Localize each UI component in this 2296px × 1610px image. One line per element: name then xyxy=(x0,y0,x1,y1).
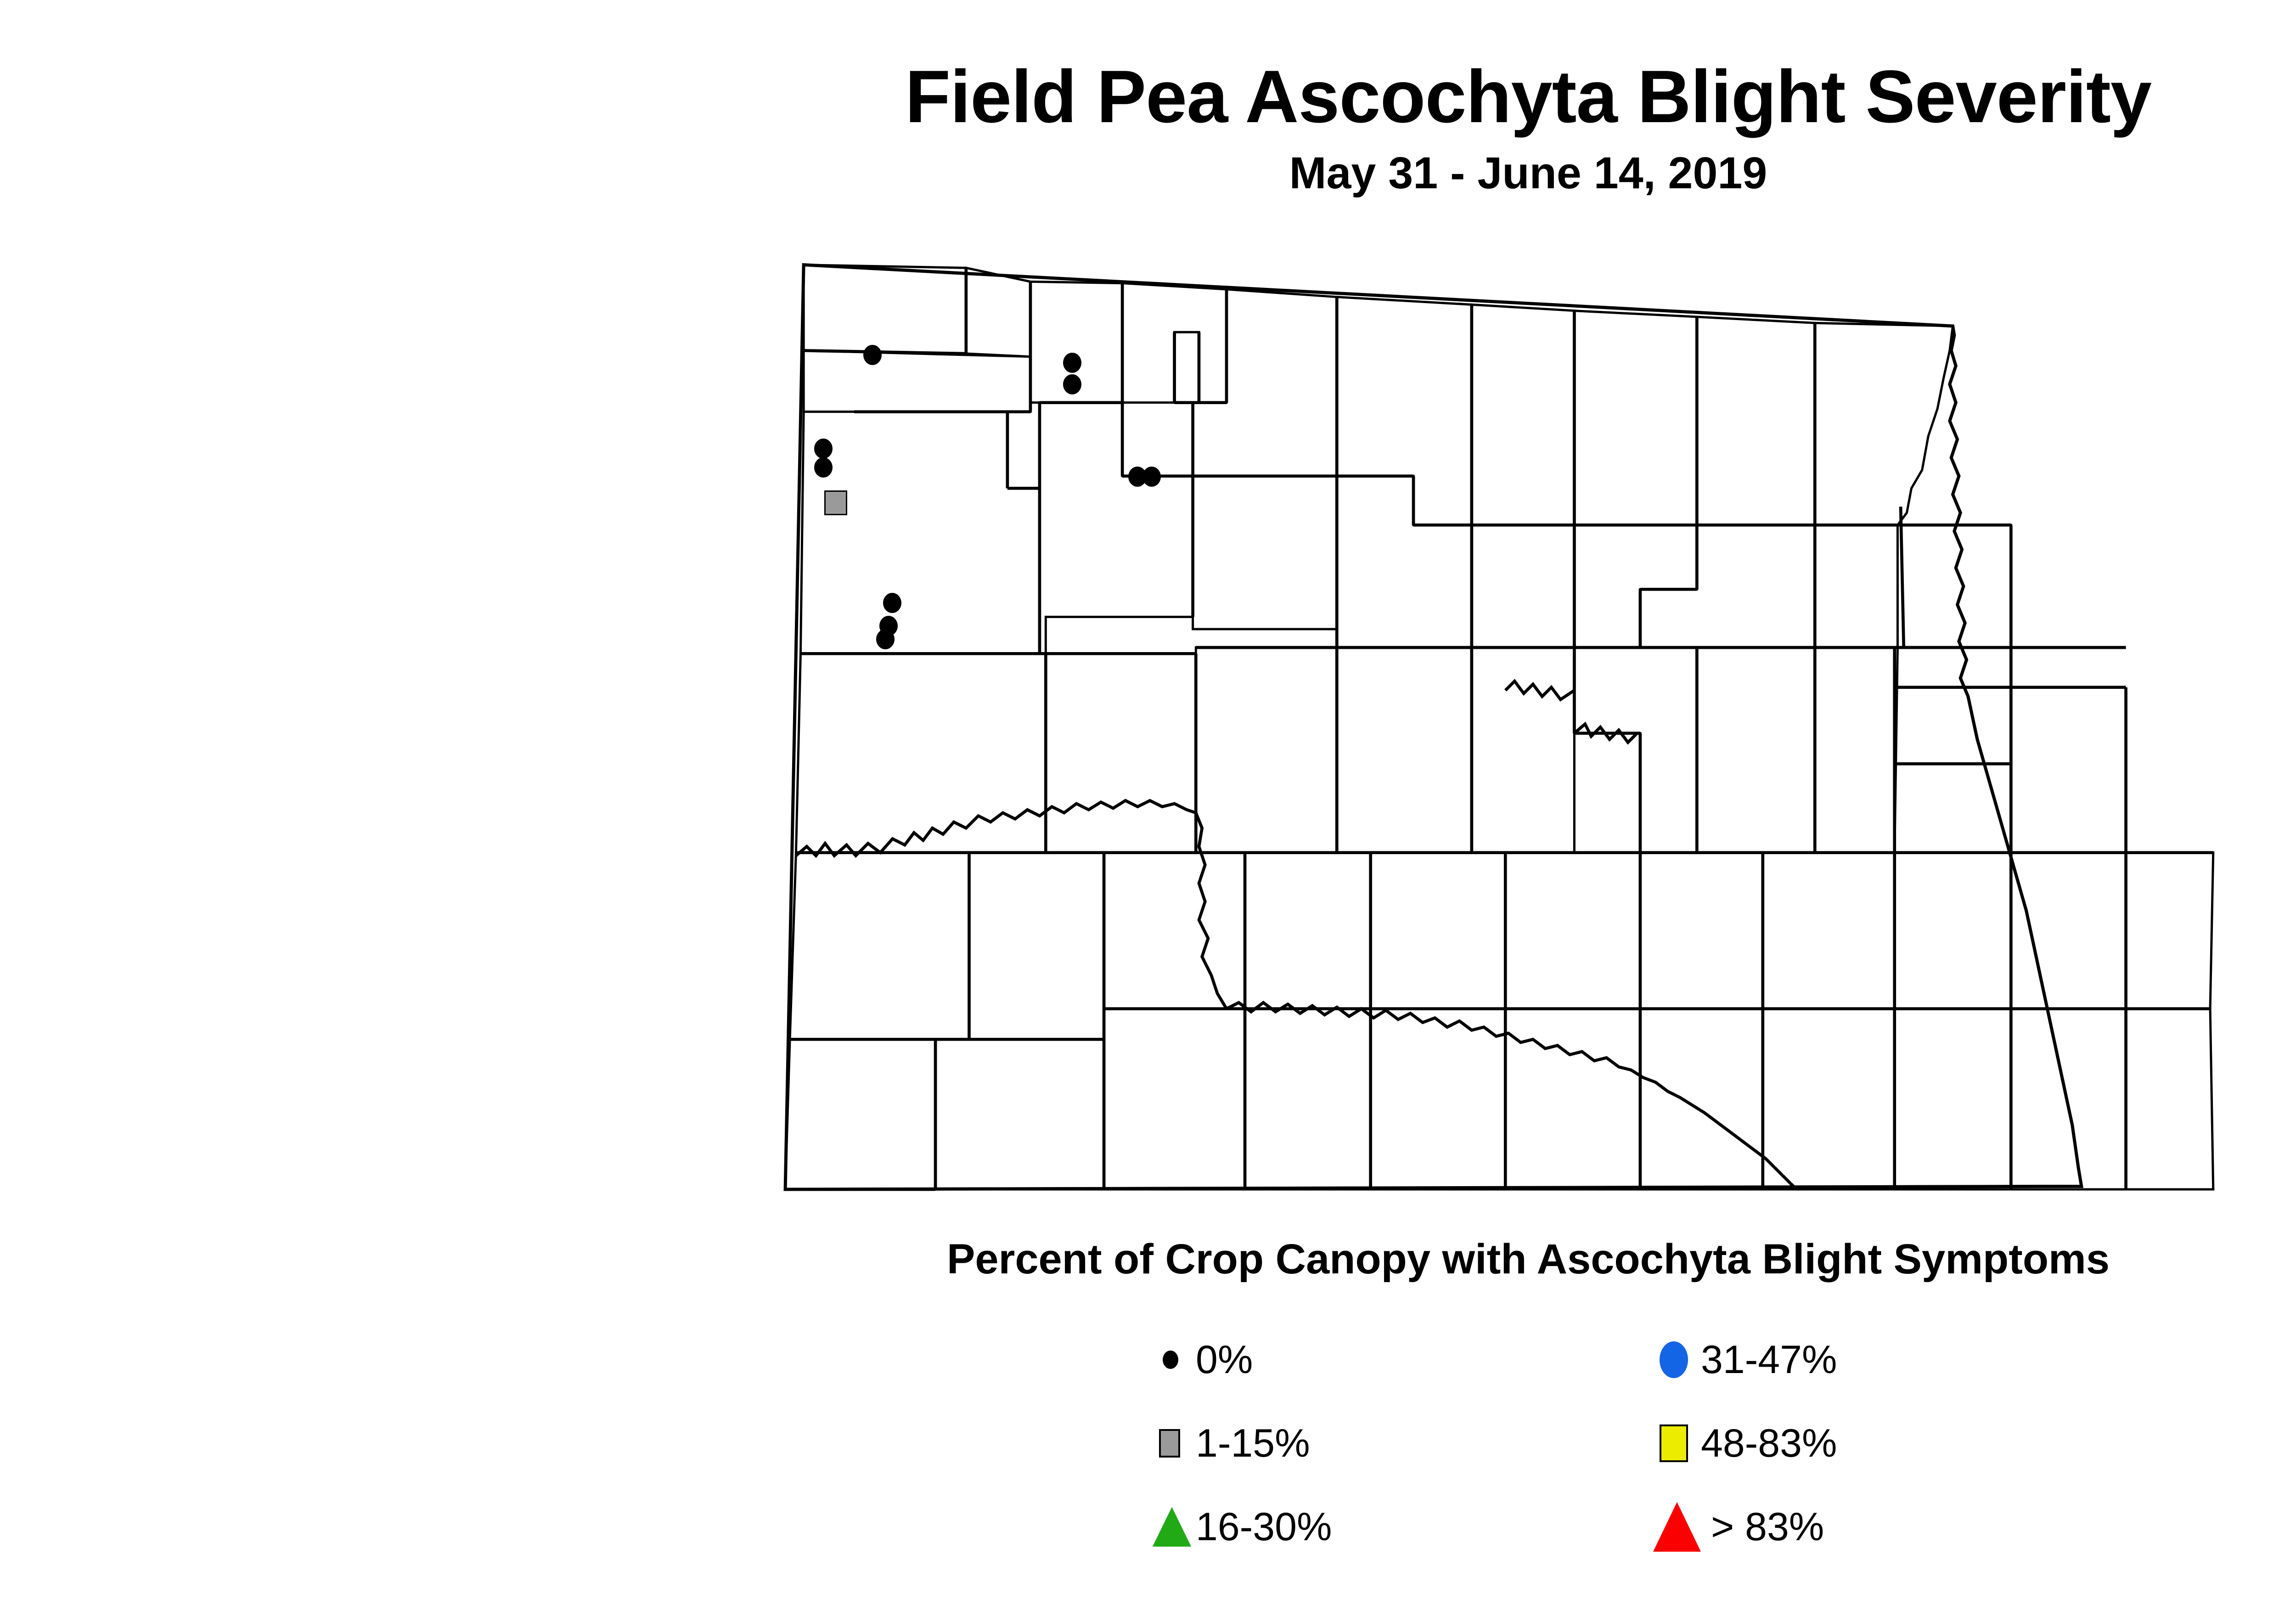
legend-label-over-83-percent: > 83% xyxy=(1711,1504,1824,1550)
legend-item-31-47-percent: 31-47% xyxy=(1644,1318,2149,1402)
page-title: Field Pea Ascochyta Blight Severity xyxy=(0,60,2296,134)
map-page: Field Pea Ascochyta Blight Severity May … xyxy=(0,0,2296,1610)
title-block: Field Pea Ascochyta Blight Severity May … xyxy=(0,60,2296,195)
north-dakota-county-map xyxy=(739,243,2296,1212)
legend-item-48-83-percent: 48-83% xyxy=(1644,1402,2149,1485)
page-subtitle: May 31 - June 14, 2019 xyxy=(0,151,2296,195)
county-polygons xyxy=(785,265,2213,1189)
legend-triangle-green-icon xyxy=(1139,1499,1194,1554)
legend-label-31-47-percent: 31-47% xyxy=(1701,1337,1837,1383)
legend-circle-blue-icon xyxy=(1644,1332,1699,1387)
legend-square-yellow-icon xyxy=(1644,1416,1699,1471)
legend-square-gray-icon xyxy=(1139,1416,1194,1471)
legend-caption: Percent of Crop Canopy with Ascochyta Bl… xyxy=(0,1235,2296,1283)
legend-label-1-15-percent: 1-15% xyxy=(1196,1421,1310,1466)
legend-item-over-83-percent: > 83% xyxy=(1644,1485,2149,1569)
map-svg xyxy=(739,243,2296,1212)
legend-item-1-15-percent: 1-15% xyxy=(1139,1402,1644,1485)
legend: 0% 31-47% 1-15% 48-83% 16-30% xyxy=(1139,1318,2149,1569)
legend-item-16-30-percent: 16-30% xyxy=(1139,1485,1644,1569)
legend-triangle-red-icon xyxy=(1644,1499,1699,1554)
legend-circle-black-icon xyxy=(1139,1332,1194,1387)
legend-label-48-83-percent: 48-83% xyxy=(1701,1421,1837,1466)
legend-item-0-percent: 0% xyxy=(1139,1318,1644,1402)
legend-label-16-30-percent: 16-30% xyxy=(1196,1504,1332,1550)
legend-label-0-percent: 0% xyxy=(1196,1337,1253,1383)
